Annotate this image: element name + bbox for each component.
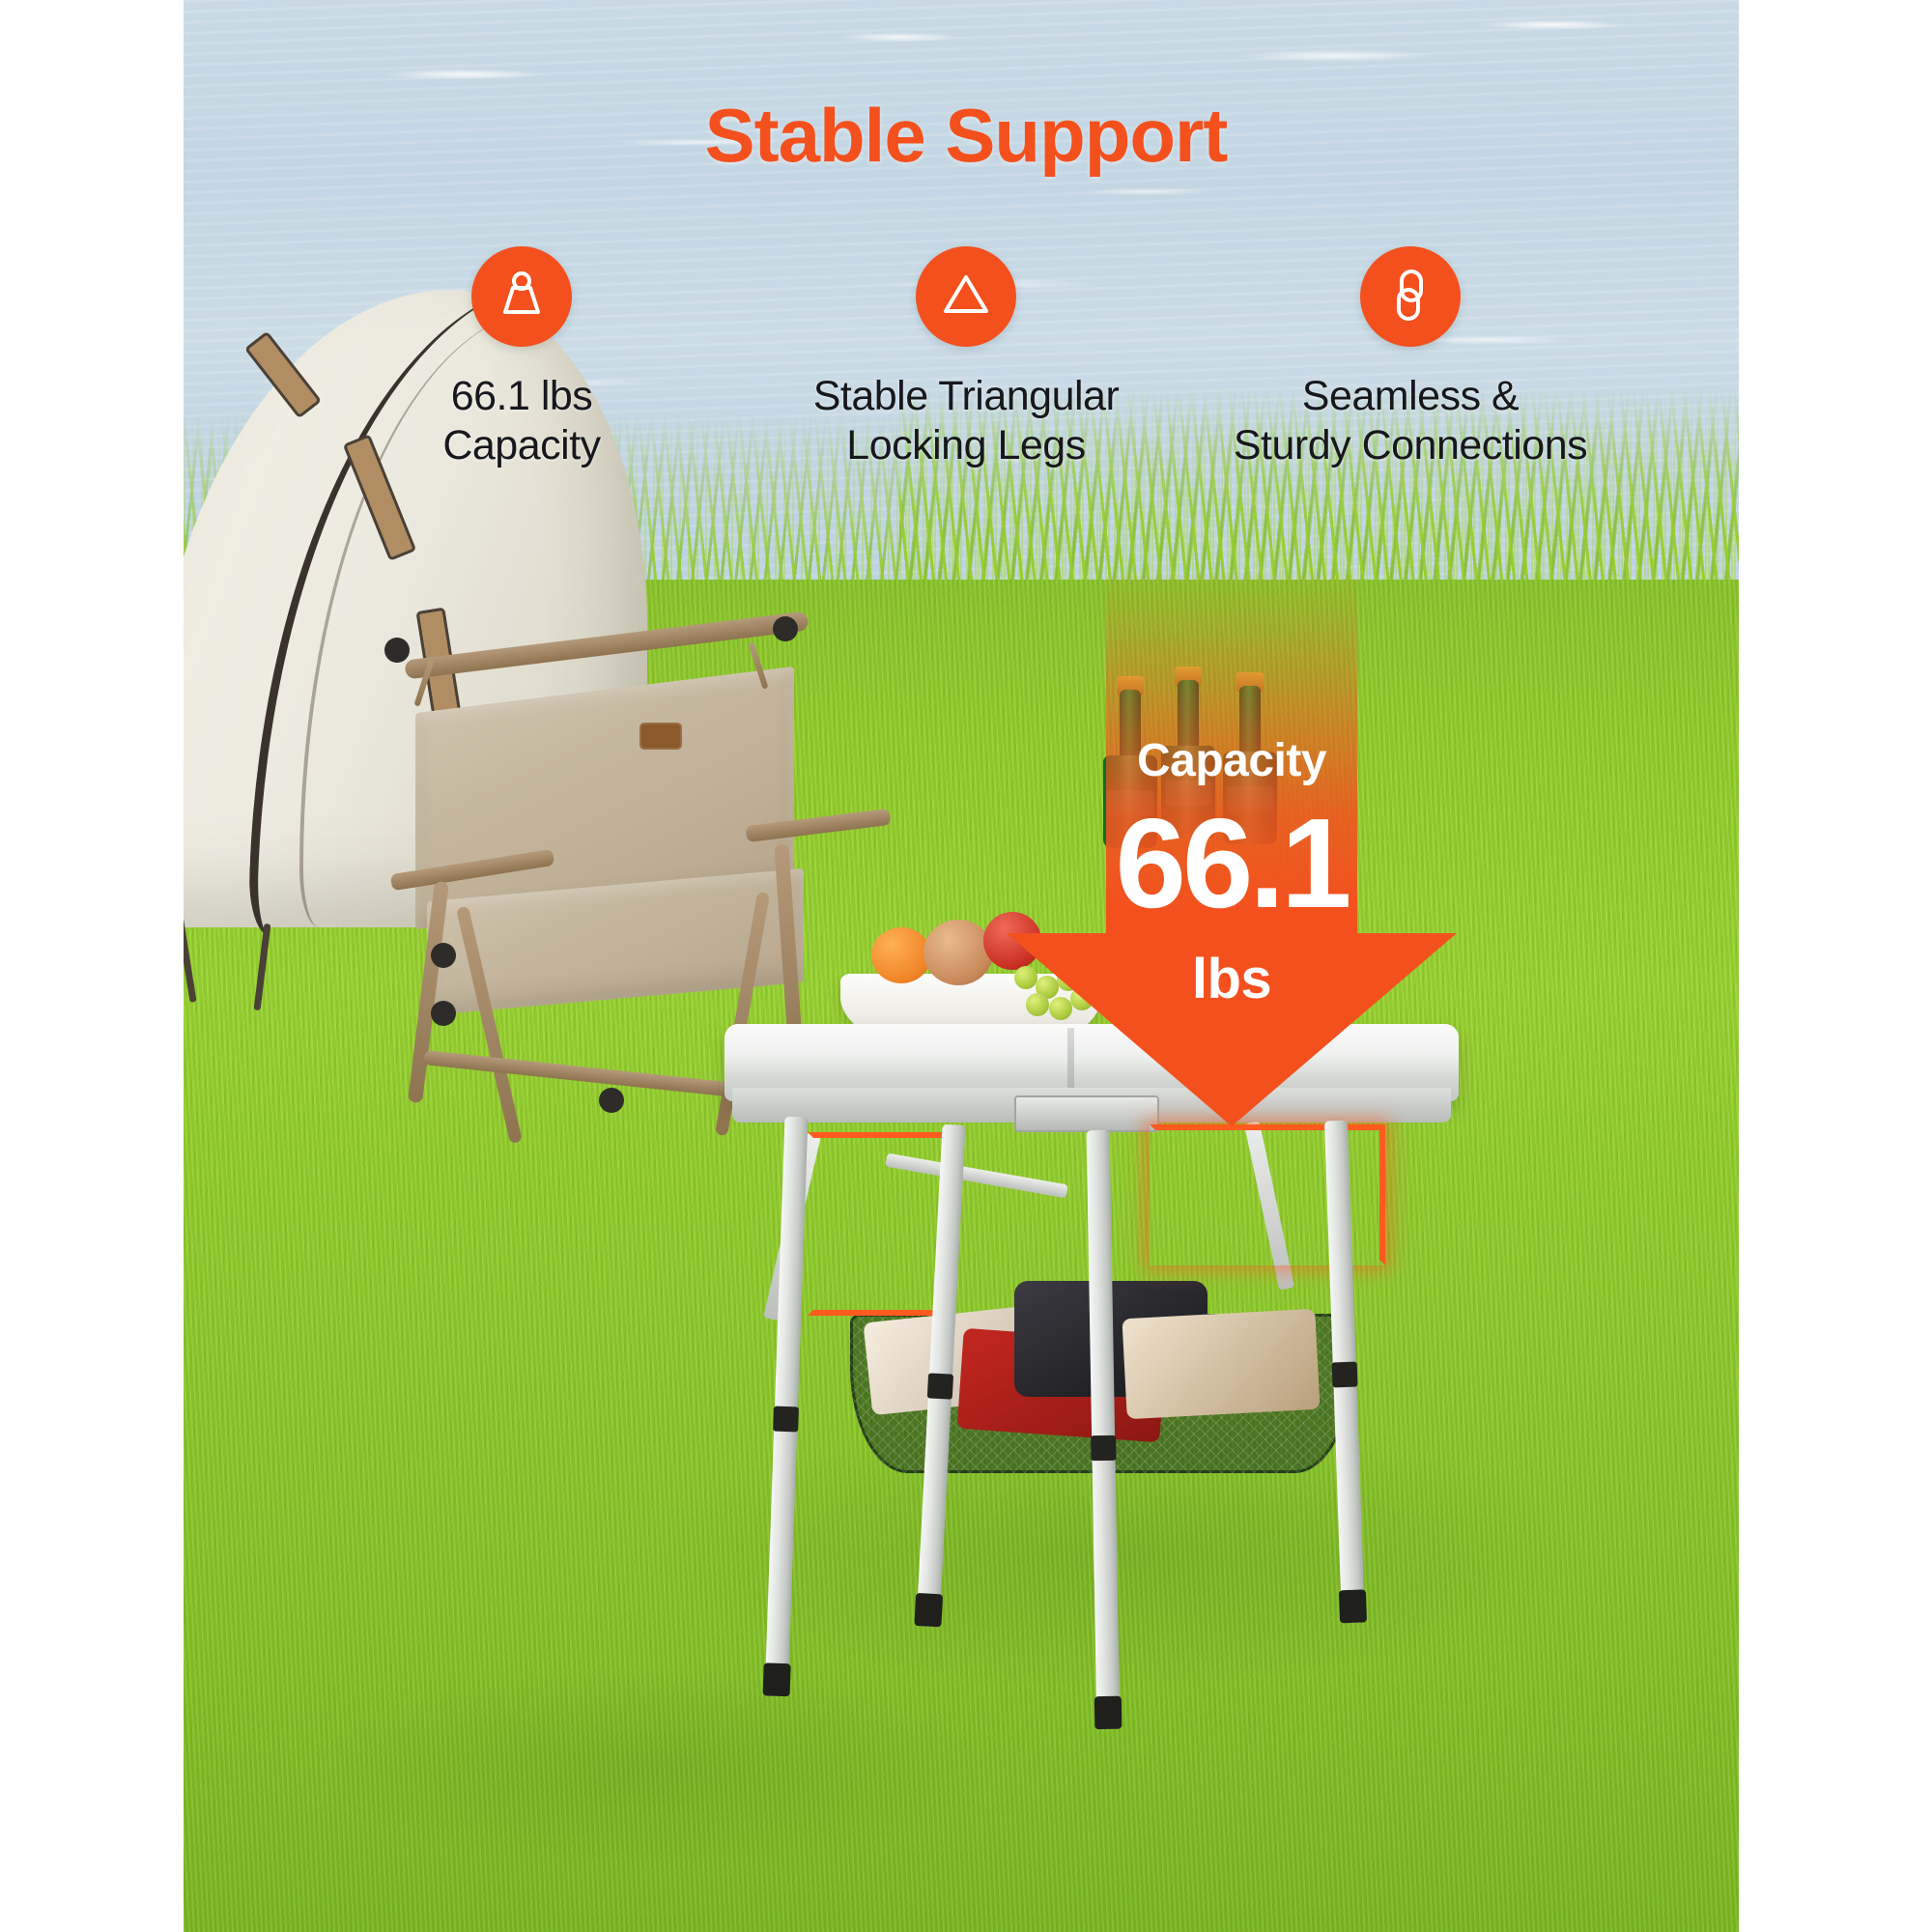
fruit-orange <box>871 927 931 983</box>
leg-height-collar <box>1332 1362 1358 1388</box>
feature-legs-line2: Locking Legs <box>813 421 1120 470</box>
folding-camp-table <box>724 1024 1459 1777</box>
capacity-unit: lbs <box>990 947 1473 1011</box>
feature-capacity-line1: 66.1 lbs <box>442 372 600 421</box>
chain-link-icon <box>1382 267 1438 327</box>
fruit-peach <box>923 920 993 985</box>
triangle-highlight-left-outline <box>808 1132 954 1316</box>
feature-capacity-line2: Capacity <box>442 421 600 470</box>
page-title: Stable Support <box>0 92 1932 180</box>
feature-connections-label: Seamless & Sturdy Connections <box>1234 372 1587 469</box>
chain-link-icon-badge <box>1360 246 1461 347</box>
capacity-label: Capacity <box>1106 734 1357 787</box>
triangle-icon-badge <box>916 246 1016 347</box>
chair-pivot-knob <box>773 616 798 641</box>
chair-pivot-knob <box>431 943 456 968</box>
feature-legs-line1: Stable Triangular <box>813 372 1120 421</box>
feature-connections-line2: Sturdy Connections <box>1234 421 1587 470</box>
leg-rubber-foot <box>763 1662 791 1696</box>
chair-brand-patch <box>639 723 682 750</box>
weight-icon <box>494 267 550 327</box>
leg-rubber-foot <box>914 1593 943 1627</box>
chair-pivot-knob <box>431 1001 456 1026</box>
feature-connections-line1: Seamless & <box>1234 372 1587 421</box>
leg-rubber-foot <box>1094 1696 1122 1729</box>
snack-bag <box>1122 1309 1320 1419</box>
feature-legs: Stable Triangular Locking Legs <box>763 246 1169 469</box>
leg-rubber-foot <box>1339 1589 1367 1623</box>
leg-height-collar <box>1091 1435 1116 1461</box>
chair-pivot-knob <box>384 638 410 663</box>
leg-height-collar <box>927 1373 953 1399</box>
table-leg-front-left <box>765 1117 809 1696</box>
chair-pivot-knob <box>599 1088 624 1113</box>
feature-legs-label: Stable Triangular Locking Legs <box>813 372 1120 469</box>
product-feature-image: Capacity 66.1 lbs Stable Support 66.1 lb… <box>0 0 1932 1932</box>
triangle-icon <box>938 267 994 327</box>
leg-height-collar <box>773 1406 799 1433</box>
weight-icon-badge <box>471 246 572 347</box>
feature-capacity-label: 66.1 lbs Capacity <box>442 372 600 469</box>
capacity-value: 66.1 <box>990 800 1473 927</box>
feature-capacity: 66.1 lbs Capacity <box>319 246 724 469</box>
feature-connections: Seamless & Sturdy Connections <box>1207 246 1613 469</box>
feature-row: 66.1 lbs Capacity Stable Triangular Lock… <box>319 246 1613 469</box>
capacity-arrow-callout: Capacity 66.1 lbs <box>1106 570 1357 1111</box>
